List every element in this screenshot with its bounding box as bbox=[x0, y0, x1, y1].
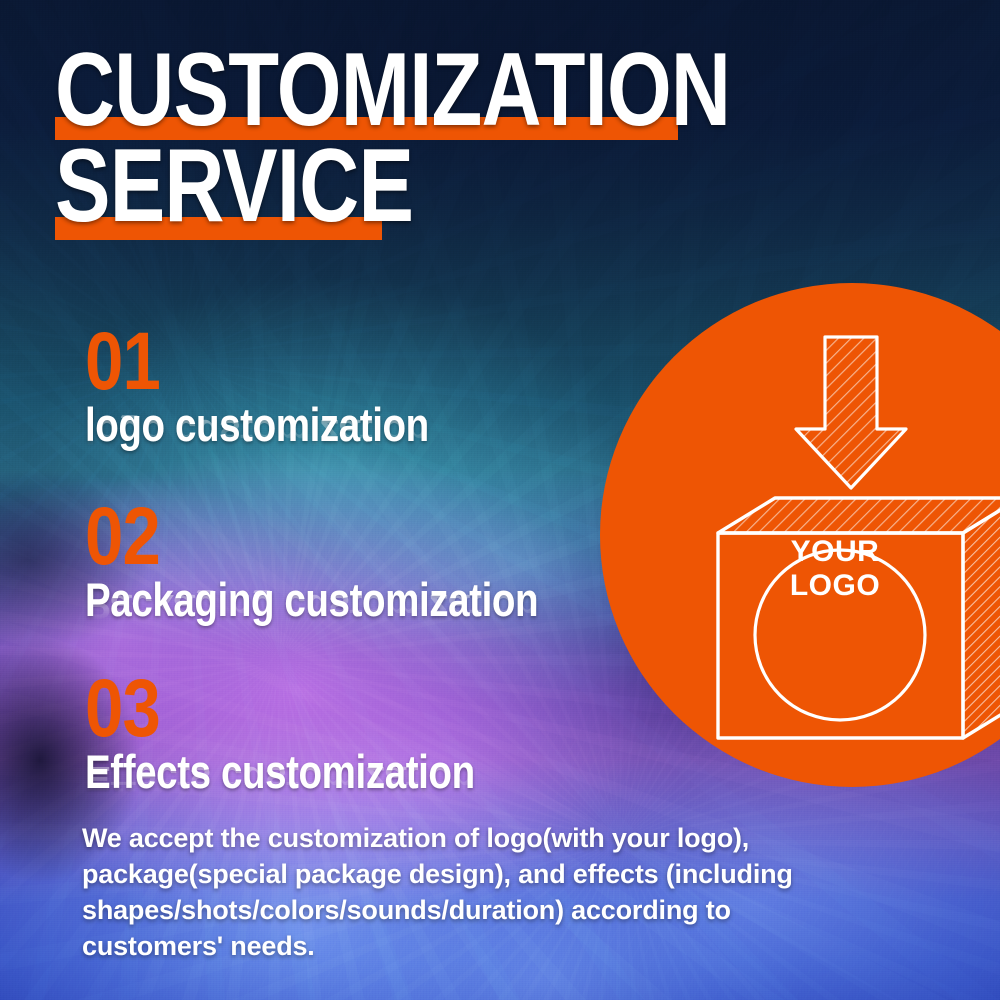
service-number-01: 01 bbox=[85, 325, 160, 399]
logo-placeholder-line1: YOUR bbox=[763, 535, 907, 569]
title-row-2: SERVICE bbox=[55, 140, 755, 240]
service-number-02: 02 bbox=[85, 500, 160, 574]
title-row-1: CUSTOMIZATION bbox=[55, 44, 755, 140]
logo-placeholder-line2: LOGO bbox=[763, 569, 907, 603]
service-number-03: 03 bbox=[85, 672, 160, 746]
service-label-wrap-03: Effects customization Effects customizat… bbox=[85, 748, 174, 794]
title-line-2: SERVICE bbox=[55, 134, 413, 238]
title-line-1: CUSTOMIZATION bbox=[55, 38, 730, 142]
logo-placeholder-text: YOUR LOGO bbox=[763, 535, 907, 603]
body-copy: We accept the customization of logo(with… bbox=[82, 820, 872, 964]
service-label-reflection-01: logo customization bbox=[85, 415, 429, 449]
service-label-reflection-03: Effects customization bbox=[85, 762, 475, 796]
service-item-03: 03 Effects customization Effects customi… bbox=[85, 672, 174, 794]
service-label-wrap-01: logo customization logo customization bbox=[85, 401, 174, 447]
shipping-box-icon bbox=[718, 498, 1000, 738]
service-item-02: 02 Packaging customization Packaging cus… bbox=[85, 500, 174, 622]
down-arrow-icon bbox=[796, 337, 906, 488]
page-title: CUSTOMIZATION SERVICE bbox=[55, 44, 755, 240]
service-item-01: 01 logo customization logo customization bbox=[85, 325, 174, 447]
promo-poster: YOUR LOGO CUSTOMIZATION SERVICE 01 logo … bbox=[0, 0, 1000, 1000]
service-label-wrap-02: Packaging customization Packaging custom… bbox=[85, 576, 174, 622]
service-label-reflection-02: Packaging customization bbox=[85, 590, 538, 624]
